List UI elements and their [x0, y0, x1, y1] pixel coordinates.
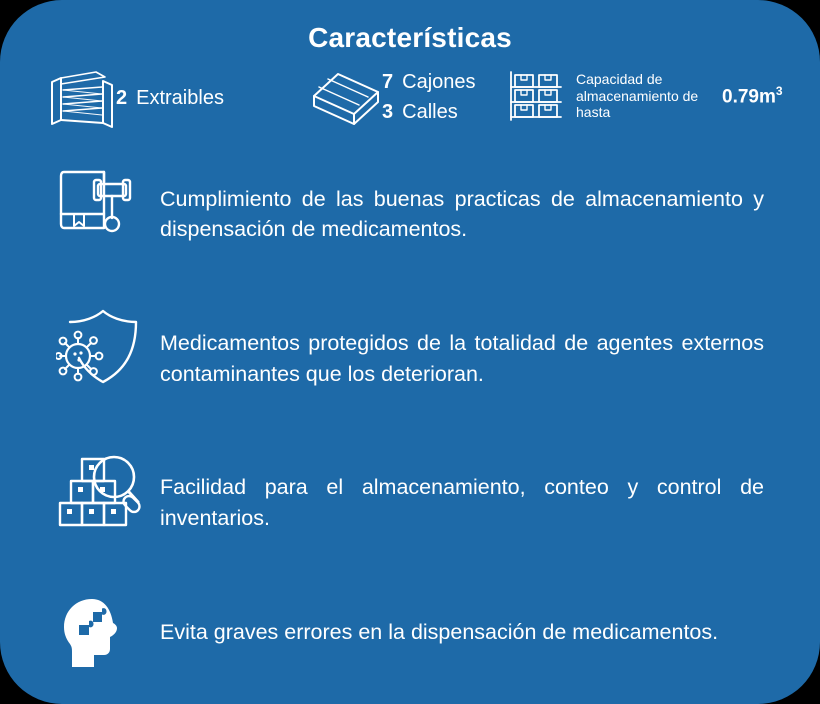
stat-number: 2 [116, 84, 127, 114]
stat-line: 2 Extraibles [116, 84, 224, 114]
stat-line: 3 Calles [382, 98, 476, 128]
feature-text: Facilidad para el almacenamiento, conteo… [160, 470, 764, 533]
feature-text: Medicamentos protegidos de la totalidad … [160, 326, 764, 389]
feature-item: Cumplimiento de las buenas practicas de … [0, 160, 820, 266]
feature-text: Cumplimiento de las buenas practicas de … [160, 182, 764, 245]
feature-item: Facilidad para el almacenamiento, conteo… [0, 449, 820, 555]
drawer-icon [310, 68, 382, 128]
boxes-magnifier-icon [56, 449, 160, 531]
capacity-number: 0.79m [722, 86, 776, 107]
stat-cajones-lines: 7 Cajones 3 Calles [382, 68, 476, 127]
stat-number: 3 [382, 98, 393, 128]
stat-capacidad-wrap: Capacidad de almacenamiento de hasta 0.7… [508, 68, 783, 124]
storage-rack-boxes-icon [508, 68, 564, 124]
feature-text: Evita graves errores en la dispensación … [160, 615, 764, 648]
caracteristicas-card: Características [0, 0, 820, 704]
stat-label: Calles [402, 98, 458, 128]
stat-cajones-calles: 7 Cajones 3 Calles [310, 68, 508, 128]
stat-number: 7 [382, 68, 393, 98]
stat-extraibles-lines: 2 Extraibles [116, 84, 224, 114]
stat-label: Extraibles [136, 84, 224, 114]
open-shelving-cabinet-icon [48, 68, 116, 130]
stat-line: 7 Cajones [382, 68, 476, 98]
law-book-gavel-icon [56, 160, 160, 238]
head-puzzle-icon [56, 593, 160, 673]
stats-row: 2 Extraibles 7 Cajones [0, 54, 820, 130]
stat-capacidad-value: 0.79m3 [722, 84, 783, 108]
stat-capacidad: Capacidad de almacenamiento de hasta 0.7… [508, 68, 790, 124]
stat-extraibles: 2 Extraibles [48, 68, 310, 130]
feature-item: Medicamentos protegidos de la totalidad … [0, 304, 820, 410]
page-title: Características [0, 22, 820, 54]
features-list: Cumplimiento de las buenas practicas de … [0, 160, 820, 677]
feature-item: Evita graves errores en la dispensación … [0, 593, 820, 677]
stat-label: Cajones [402, 68, 475, 98]
shield-virus-icon [56, 304, 160, 388]
stat-capacidad-text: Capacidad de almacenamiento de hasta [576, 71, 712, 121]
capacity-exponent: 3 [776, 84, 783, 98]
